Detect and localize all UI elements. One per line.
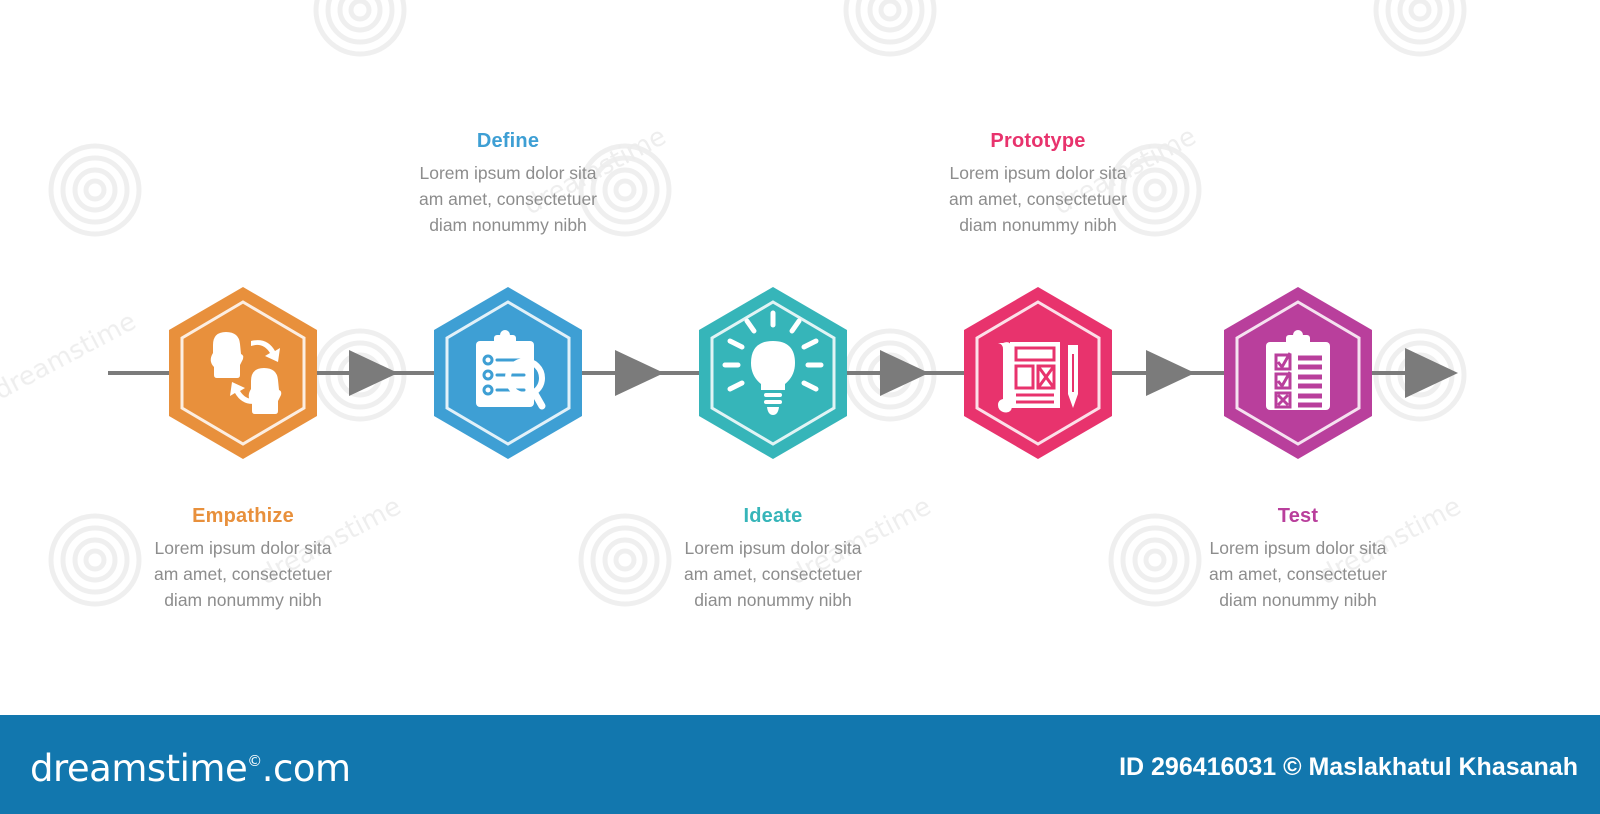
arrowhead-1	[349, 350, 398, 396]
arrowhead-3	[880, 350, 929, 396]
arrowhead-end	[1405, 348, 1458, 398]
image-credit: ID 296416031 © Maslakhatul Khasanah	[1119, 753, 1578, 782]
step-desc-define: Lorem ipsum dolor sita am amet, consecte…	[377, 161, 639, 239]
step-text-empathize: Empathize Lorem ipsum dolor sita am amet…	[112, 505, 374, 614]
brand-name: dreamstime	[30, 747, 247, 790]
infographic-canvas: Empathize Lorem ipsum dolor sita am amet…	[0, 0, 1600, 715]
step-node-empathize[interactable]	[167, 285, 319, 461]
hexagon-shape	[169, 287, 317, 459]
arrowhead-4	[1146, 350, 1195, 396]
step-node-prototype[interactable]	[962, 285, 1114, 461]
brand-tld: .com	[262, 747, 351, 790]
step-title-define: Define	[377, 130, 639, 153]
step-title-prototype: Prototype	[907, 130, 1169, 153]
arrowhead-2	[615, 350, 664, 396]
step-node-define[interactable]	[432, 285, 584, 461]
step-text-test: Test Lorem ipsum dolor sita am amet, con…	[1167, 505, 1429, 614]
footer-bar: dreamstime©.com ID 296416031 © Maslakhat…	[0, 715, 1600, 814]
step-text-ideate: Ideate Lorem ipsum dolor sita am amet, c…	[642, 505, 904, 614]
step-desc-test: Lorem ipsum dolor sita am amet, consecte…	[1167, 536, 1429, 614]
step-node-test[interactable]	[1222, 285, 1374, 461]
step-desc-ideate: Lorem ipsum dolor sita am amet, consecte…	[642, 536, 904, 614]
step-node-ideate[interactable]	[697, 285, 849, 461]
step-title-test: Test	[1167, 505, 1429, 528]
step-title-empathize: Empathize	[112, 505, 374, 528]
checklist-clipboard-icon	[1266, 330, 1330, 410]
step-desc-prototype: Lorem ipsum dolor sita am amet, consecte…	[907, 161, 1169, 239]
step-desc-empathize: Lorem ipsum dolor sita am amet, consecte…	[112, 536, 374, 614]
step-text-prototype: Prototype Lorem ipsum dolor sita am amet…	[907, 130, 1169, 239]
step-text-define: Define Lorem ipsum dolor sita am amet, c…	[377, 130, 639, 239]
dreamstime-logo[interactable]: dreamstime©.com	[30, 747, 351, 790]
registered-mark-icon: ©	[247, 752, 262, 770]
step-title-ideate: Ideate	[642, 505, 904, 528]
